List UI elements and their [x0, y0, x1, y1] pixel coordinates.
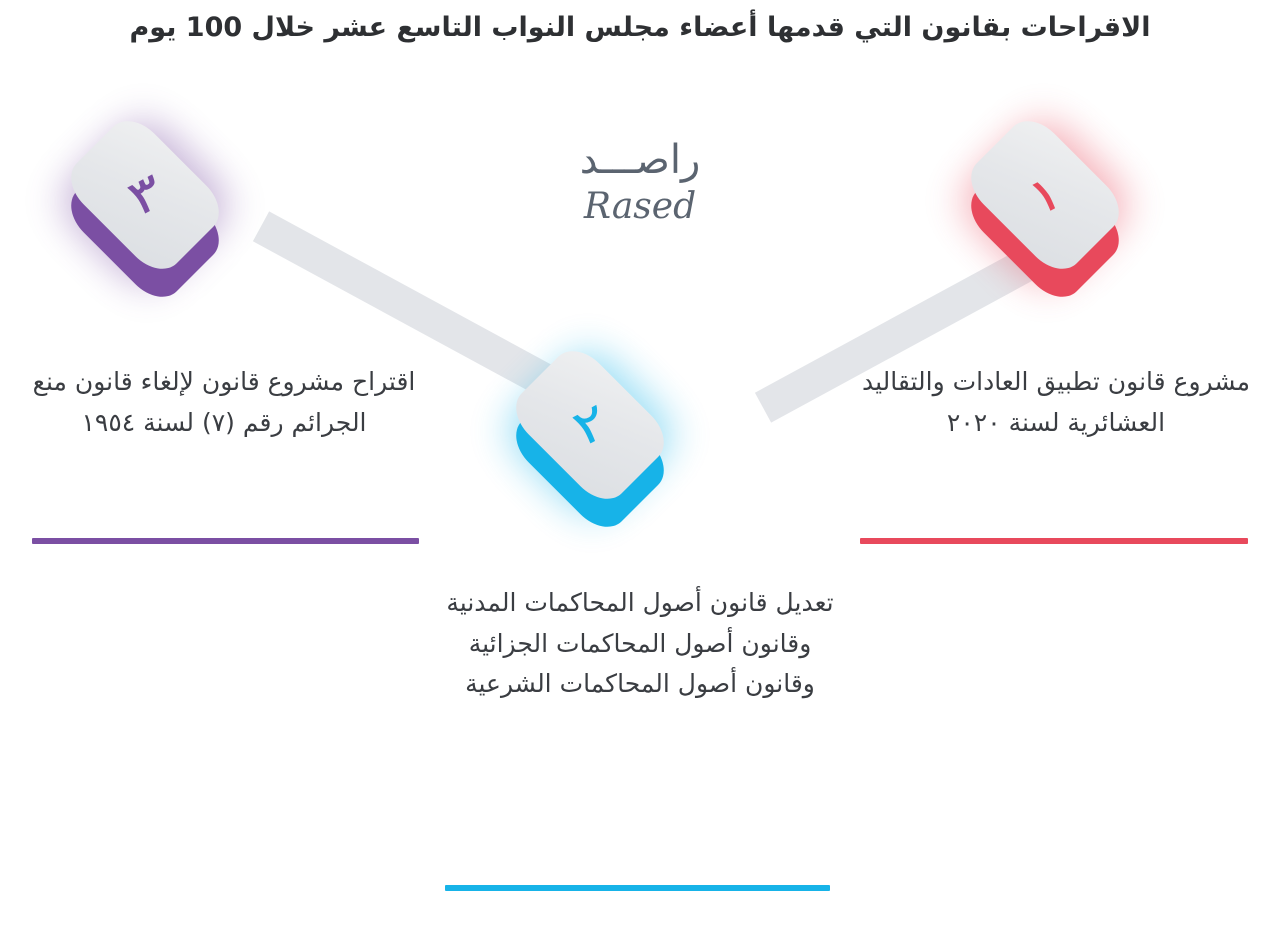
- rule-red: [860, 538, 1248, 544]
- node-purple[interactable]: ٣: [45, 95, 245, 295]
- node-red[interactable]: ١: [945, 95, 1145, 295]
- caption-red: مشروع قانون تطبيق العادات والتقاليد العش…: [846, 362, 1266, 443]
- page-title: الاقراحات بقانون التي قدمها أعضاء مجلس ا…: [0, 10, 1280, 46]
- rased-logo: راصـــد Rased: [505, 140, 775, 229]
- logo-latin-text: Rased: [505, 184, 775, 229]
- node-cyan[interactable]: ٢: [490, 325, 690, 525]
- caption-purple: اقتراح مشروع قانون لإلغاء قانون منع الجر…: [14, 362, 434, 443]
- caption-cyan: تعديل قانون أصول المحاكمات المدنية وقانو…: [430, 583, 850, 705]
- rule-purple: [32, 538, 419, 544]
- rule-cyan: [445, 885, 830, 891]
- logo-arabic-text: راصـــد: [505, 140, 775, 180]
